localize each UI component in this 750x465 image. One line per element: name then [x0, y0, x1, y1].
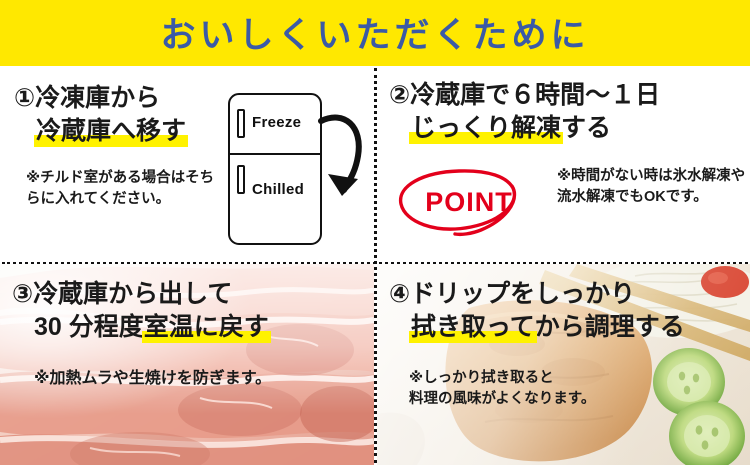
step-panel-1: ①冷凍庫から 冷蔵庫へ移す ※チルド室がある場合はそちらに入れてください。 Fr… — [0, 66, 374, 262]
step-2-note: ※時間がない時は氷水解凍や流水解凍でもOKです。 — [557, 166, 747, 207]
step-3-note: ※加熱ムラや生焼けを防ぎます。 — [34, 368, 271, 391]
step-4-note: ※しっかり拭き取ると 料理の風味がよくなります。 — [409, 368, 595, 409]
page-title: おいしくいただくために — [160, 7, 589, 58]
step-3-headline: ③冷蔵庫から出して 30 分程度室温に戻す — [12, 278, 269, 344]
step-2-headline-line2-plain: する — [561, 114, 611, 142]
step-4-headline-line2-plain: から調理する — [535, 313, 685, 341]
step-3-headline-line2-prefix: 30 分程度 — [34, 313, 144, 341]
point-badge: POINT — [393, 164, 543, 240]
step-3-headline-highlight: 室温に戻す — [144, 311, 269, 344]
fridge-freezer-handle-icon — [237, 109, 245, 138]
step-panel-3: ③冷蔵庫から出して 30 分程度室温に戻す ※加熱ムラや生焼けを防ぎます。 — [0, 264, 374, 465]
step-1-headline-line1: ①冷凍庫から — [14, 82, 186, 115]
step-2-headline: ②冷蔵庫で６時間〜１日 じっくり解凍する — [389, 79, 660, 145]
step-4-note-line1: ※しっかり拭き取ると — [409, 368, 595, 389]
curved-down-arrow-icon — [318, 112, 366, 204]
fridge-chilled-handle-icon — [237, 165, 245, 194]
step-1-note: ※チルド室がある場合はそちらに入れてください。 — [26, 168, 221, 209]
step-panel-4: ④ドリップをしっかり 拭き取ってから調理する ※しっかり拭き取ると 料理の風味が… — [377, 264, 750, 465]
step-4-headline-highlight: 拭き取って — [411, 311, 535, 344]
instruction-infographic: おいしくいただくために ①冷凍庫から 冷蔵庫へ移す ※チルド室がある場合はそちら… — [0, 0, 750, 465]
step-2-headline-line1: ②冷蔵庫で６時間〜１日 — [389, 79, 660, 112]
step-4-note-line2: 料理の風味がよくなります。 — [409, 389, 595, 410]
fridge-freezer-label: Freeze — [252, 114, 301, 131]
step-1-headline: ①冷凍庫から 冷蔵庫へ移す — [14, 82, 186, 148]
refrigerator-icon: Freeze Chilled — [228, 93, 322, 245]
step-2-headline-highlight: じっくり解凍 — [411, 112, 561, 145]
step-3-headline-line1: ③冷蔵庫から出して — [12, 278, 269, 311]
step-panel-2: ②冷蔵庫で６時間〜１日 じっくり解凍する POINT ※時間がない時は氷水解凍や… — [377, 66, 750, 262]
fridge-chilled-label: Chilled — [252, 181, 304, 198]
header-band: おいしくいただくために — [0, 0, 750, 66]
point-badge-label: POINT — [393, 164, 543, 240]
fridge-compartment-divider — [228, 153, 322, 155]
step-1-headline-highlight: 冷蔵庫へ移す — [36, 115, 186, 148]
step-4-headline: ④ドリップをしっかり 拭き取ってから調理する — [389, 278, 685, 344]
step-4-headline-line1: ④ドリップをしっかり — [389, 278, 685, 311]
